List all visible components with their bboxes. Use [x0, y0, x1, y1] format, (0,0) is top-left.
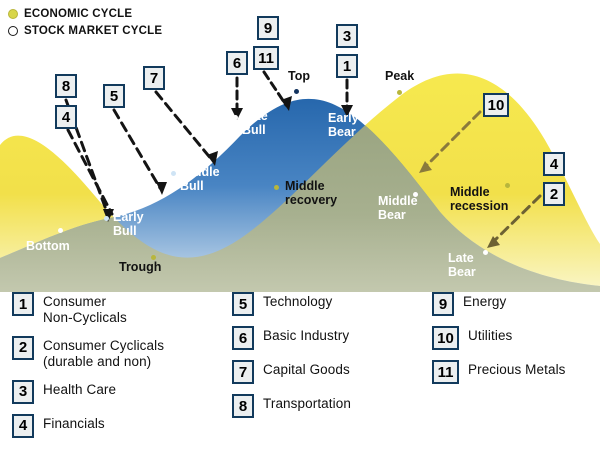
early-bear-dot: [362, 110, 367, 115]
sector-item-utilities[interactable]: 10 Utilities: [432, 326, 597, 350]
label-middle-recovery-line2: recovery: [285, 194, 337, 207]
cycle-legend: ECONOMIC CYCLE STOCK MARKET CYCLE: [8, 6, 162, 40]
sector-item-consumer-cyclicals[interactable]: 2 Consumer Cyclicals(durable and non): [12, 336, 222, 370]
legend-item-stock-market-cycle: STOCK MARKET CYCLE: [8, 23, 162, 39]
legend-label-stock-market-cycle: STOCK MARKET CYCLE: [24, 25, 162, 37]
sector-number-7: 7: [232, 360, 254, 384]
sector-label-11: Precious Metals: [468, 360, 566, 378]
sector-legend-column-2: 5 Technology 6 Basic Industry 7 Capital …: [232, 292, 427, 428]
cycle-infographic: ECONOMIC CYCLE STOCK MARKET CYCLE 8 4 5 …: [0, 0, 600, 474]
sector-item-capital-goods[interactable]: 7 Capital Goods: [232, 360, 427, 384]
sector-item-energy[interactable]: 9 Energy: [432, 292, 597, 316]
callout-box-4-right[interactable]: 4: [543, 152, 565, 176]
sector-number-1: 1: [12, 292, 34, 316]
sector-number-10: 10: [432, 326, 459, 350]
callout-box-3[interactable]: 3: [336, 24, 358, 48]
sector-item-precious-metals[interactable]: 11 Precious Metals: [432, 360, 597, 384]
callout-box-1[interactable]: 1: [336, 54, 358, 78]
sector-number-6: 6: [232, 326, 254, 350]
sector-number-11: 11: [432, 360, 459, 384]
sector-item-financials[interactable]: 4 Financials: [12, 414, 222, 438]
label-middle-bear-line1: Middle: [378, 195, 418, 208]
sector-number-4: 4: [12, 414, 34, 438]
sector-number-9: 9: [432, 292, 454, 316]
legend-label-economic-cycle: ECONOMIC CYCLE: [24, 8, 132, 20]
sector-label-1: ConsumerNon-Cyclicals: [43, 292, 127, 326]
label-top: Top: [288, 70, 310, 83]
sector-label-2: Consumer Cyclicals(durable and non): [43, 336, 164, 370]
middle-bear-dot: [413, 192, 418, 197]
callout-box-6[interactable]: 6: [226, 51, 248, 75]
label-middle-recession-line2: recession: [450, 200, 508, 213]
sector-number-8: 8: [232, 394, 254, 418]
sector-item-consumer-non-cyclicals[interactable]: 1 ConsumerNon-Cyclicals: [12, 292, 222, 326]
label-trough: Trough: [119, 261, 161, 274]
sector-label-5: Technology: [263, 292, 332, 310]
legend-item-economic-cycle: ECONOMIC CYCLE: [8, 6, 162, 22]
bottom-dot: [58, 228, 63, 233]
sector-item-transportation[interactable]: 8 Transportation: [232, 394, 427, 418]
middle-recovery-dot: [274, 185, 279, 190]
filled-circle-icon: [8, 9, 18, 19]
callout-box-9[interactable]: 9: [257, 16, 279, 40]
label-early-bull-line2: Bull: [113, 225, 137, 238]
label-middle-bear-line2: Bear: [378, 209, 406, 222]
sector-label-10: Utilities: [468, 326, 512, 344]
callout-box-7[interactable]: 7: [143, 66, 165, 90]
callout-box-10[interactable]: 10: [483, 93, 509, 117]
early-bull-dot: [104, 216, 109, 221]
middle-bull-dot: [171, 171, 176, 176]
sector-label-7: Capital Goods: [263, 360, 350, 378]
sector-number-3: 3: [12, 380, 34, 404]
callout-box-11[interactable]: 11: [253, 46, 279, 70]
peak-dot: [397, 90, 402, 95]
callout-box-8[interactable]: 8: [55, 74, 77, 98]
label-bottom: Bottom: [26, 240, 70, 253]
label-peak: Peak: [385, 70, 414, 83]
label-early-bull-line1: Early: [113, 211, 144, 224]
sector-item-basic-industry[interactable]: 6 Basic Industry: [232, 326, 427, 350]
label-late-bull-line1: Late: [242, 110, 268, 123]
callout-box-5[interactable]: 5: [103, 84, 125, 108]
label-late-bull-line2: Bull: [242, 124, 266, 137]
sector-number-2: 2: [12, 336, 34, 360]
label-late-bear-line2: Bear: [448, 266, 476, 279]
label-middle-bull-line1: Middle: [180, 166, 220, 179]
label-middle-recovery-line1: Middle: [285, 180, 325, 193]
sector-item-health-care[interactable]: 3 Health Care: [12, 380, 222, 404]
chart-panel: ECONOMIC CYCLE STOCK MARKET CYCLE 8 4 5 …: [0, 0, 600, 292]
sector-number-5: 5: [232, 292, 254, 316]
middle-recession-dot: [505, 183, 510, 188]
sector-label-9: Energy: [463, 292, 506, 310]
top-dot: [294, 89, 299, 94]
label-early-bear-line2: Bear: [328, 126, 356, 139]
cycle-chart: [0, 0, 600, 292]
sector-legend-column-1: 1 ConsumerNon-Cyclicals 2 Consumer Cycli…: [12, 292, 222, 448]
label-middle-recession-line1: Middle: [450, 186, 490, 199]
hollow-circle-icon: [8, 26, 18, 36]
sector-label-3: Health Care: [43, 380, 116, 398]
callout-box-2[interactable]: 2: [543, 182, 565, 206]
label-middle-bull-line2: Bull: [180, 180, 204, 193]
label-late-bear-line1: Late: [448, 252, 474, 265]
label-early-bear-line1: Early: [328, 112, 359, 125]
sector-label-6: Basic Industry: [263, 326, 349, 344]
sector-legend-column-3: 9 Energy 10 Utilities 11 Precious Metals: [432, 292, 597, 394]
sector-item-technology[interactable]: 5 Technology: [232, 292, 427, 316]
callout-box-4-left[interactable]: 4: [55, 105, 77, 129]
late-bear-dot: [483, 250, 488, 255]
sector-label-4: Financials: [43, 414, 105, 432]
sector-label-8: Transportation: [263, 394, 351, 412]
sector-legend: 1 ConsumerNon-Cyclicals 2 Consumer Cycli…: [0, 292, 600, 474]
trough-dot: [151, 255, 156, 260]
late-bull-dot: [233, 115, 238, 120]
